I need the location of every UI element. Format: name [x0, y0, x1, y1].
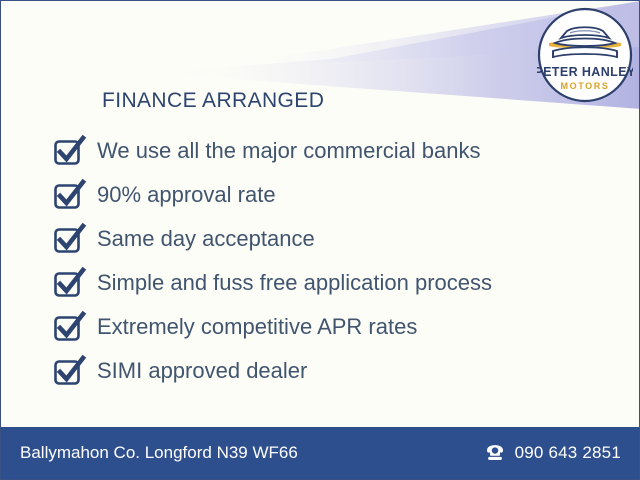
- phone-contact[interactable]: 090 643 2851: [484, 442, 621, 464]
- telephone-icon: [484, 442, 506, 464]
- list-item-label: We use all the major commercial banks: [97, 140, 481, 162]
- logo-brand-line1: PETER HANLEY: [537, 65, 633, 79]
- checkbox-checked-icon: [53, 135, 85, 167]
- checkbox-checked-icon: [53, 223, 85, 255]
- list-item-label: Simple and fuss free application process: [97, 272, 492, 294]
- checkbox-checked-icon: [53, 311, 85, 343]
- benefits-checklist: We use all the major commercial banks 90…: [53, 129, 613, 393]
- list-item: We use all the major commercial banks: [53, 129, 613, 173]
- checkbox-checked-icon: [53, 267, 85, 299]
- list-item-label: Same day acceptance: [97, 228, 315, 250]
- phone-number: 090 643 2851: [515, 443, 621, 463]
- peter-hanley-motors-logo: PETER HANLEY MOTORS: [537, 7, 633, 103]
- logo-badge: PETER HANLEY MOTORS: [537, 7, 633, 103]
- checkbox-checked-icon: [53, 179, 85, 211]
- page-title: FINANCE ARRANGED: [102, 89, 324, 113]
- list-item-label: SIMI approved dealer: [97, 360, 307, 382]
- list-item: Simple and fuss free application process: [53, 261, 613, 305]
- logo-brand-line2: MOTORS: [561, 81, 610, 91]
- footer-bar: Ballymahon Co. Longford N39 WF66 090 643…: [1, 427, 639, 479]
- finance-arranged-poster: PETER HANLEY MOTORS FINANCE ARRANGED We …: [0, 0, 640, 480]
- list-item-label: Extremely competitive APR rates: [97, 316, 417, 338]
- list-item: Extremely competitive APR rates: [53, 305, 613, 349]
- list-item: SIMI approved dealer: [53, 349, 613, 393]
- list-item-label: 90% approval rate: [97, 184, 276, 206]
- checkbox-checked-icon: [53, 355, 85, 387]
- list-item: Same day acceptance: [53, 217, 613, 261]
- dealer-address: Ballymahon Co. Longford N39 WF66: [20, 443, 298, 463]
- list-item: 90% approval rate: [53, 173, 613, 217]
